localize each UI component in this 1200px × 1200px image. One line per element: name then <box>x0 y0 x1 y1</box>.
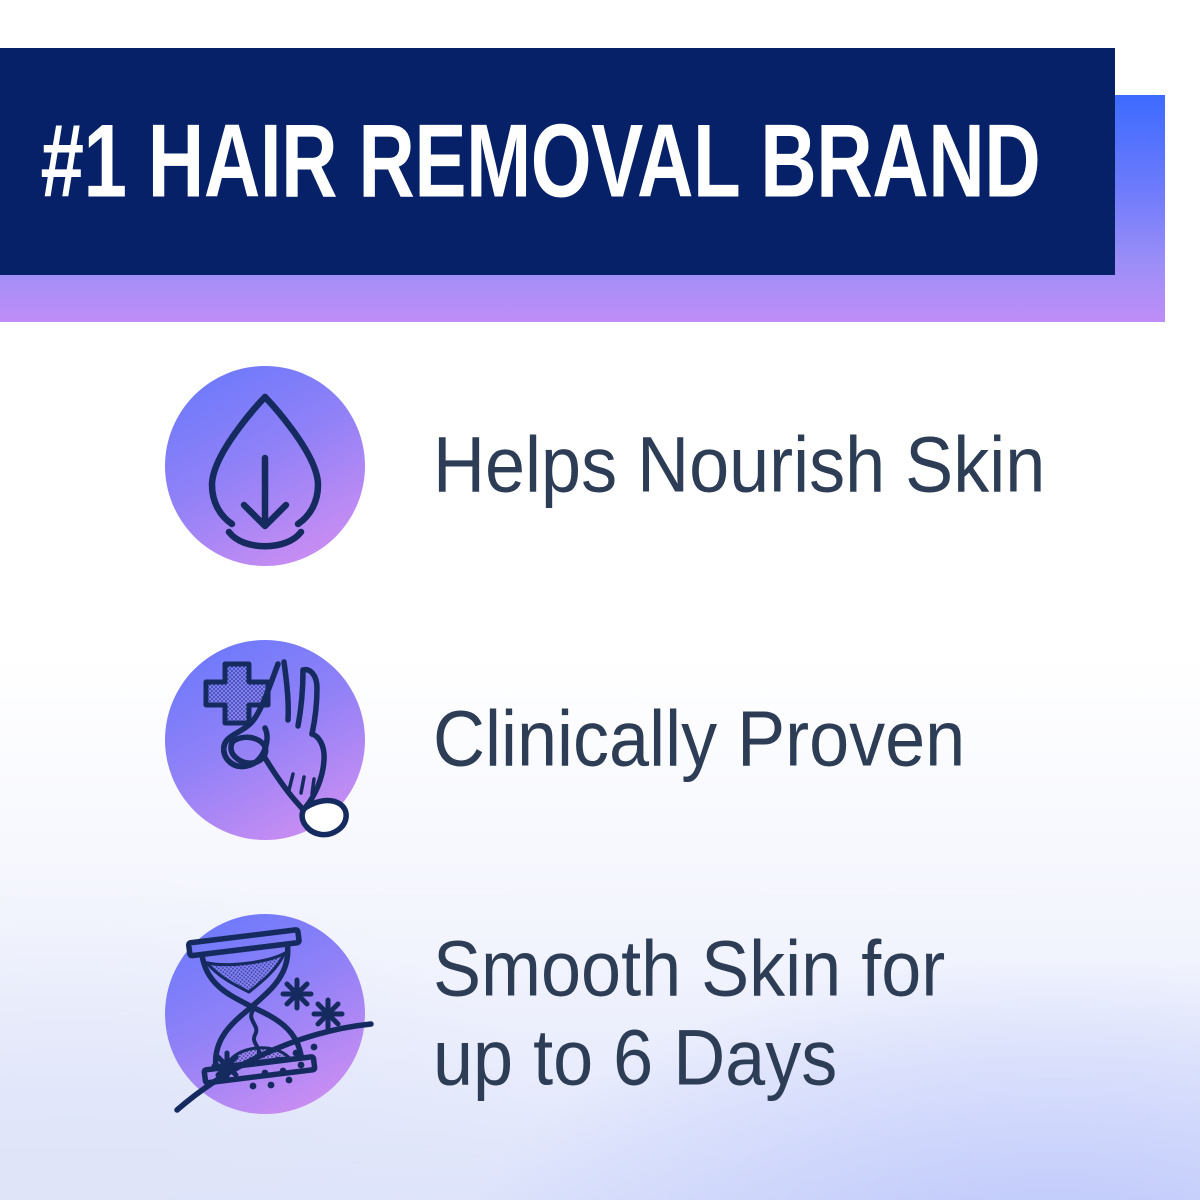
hourglass-smooth-skin-icon <box>165 914 365 1114</box>
feature-list: Helps Nourish Skin <box>0 356 1200 1176</box>
feature-item: Smooth Skin for up to 6 Days <box>0 904 1200 1124</box>
feature-label: Clinically Proven <box>433 695 965 784</box>
header: #1 HAIR REMOVAL BRAND <box>0 0 1200 340</box>
feature-label: Helps Nourish Skin <box>433 421 1045 510</box>
feature-item: Clinically Proven <box>0 630 1200 850</box>
title-banner: #1 HAIR REMOVAL BRAND <box>0 48 1115 275</box>
page-title: #1 HAIR REMOVAL BRAND <box>0 110 1040 214</box>
ok-hand-medical-cross-icon <box>165 640 365 840</box>
feature-item: Helps Nourish Skin <box>0 356 1200 576</box>
feature-label: Smooth Skin for up to 6 Days <box>433 925 945 1104</box>
droplet-absorb-icon <box>165 366 365 566</box>
